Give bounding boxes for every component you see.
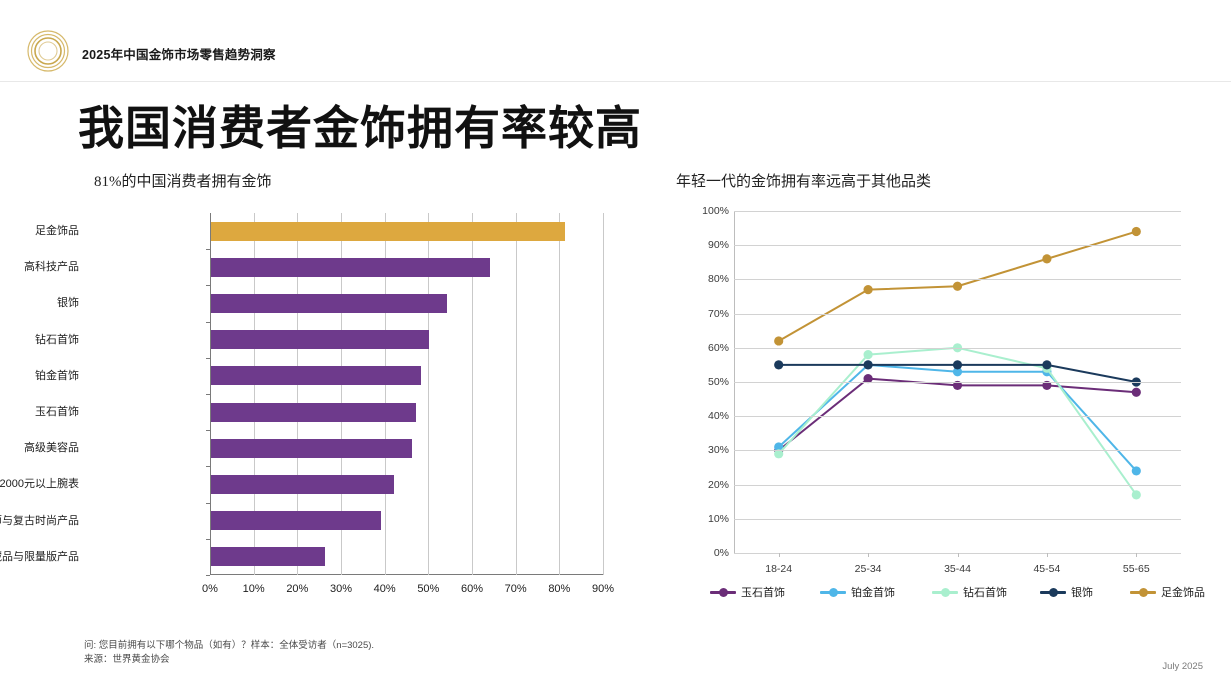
line-data-point[interactable] bbox=[953, 282, 962, 291]
line-data-point[interactable] bbox=[953, 360, 962, 369]
ownership-bar-chart: 0%10%20%30%40%50%60%70%80%90%足金饰品高科技产品银饰… bbox=[90, 213, 630, 603]
bar-rect[interactable] bbox=[211, 547, 325, 566]
line-y-tick-label: 10% bbox=[683, 514, 729, 525]
bar-category-label: 钻石首饰 bbox=[35, 322, 79, 358]
bar-row[interactable]: 收藏品与限量版产品 bbox=[210, 539, 603, 575]
bar-rect[interactable] bbox=[211, 258, 490, 277]
bar-row[interactable]: 铂金首饰 bbox=[210, 358, 603, 394]
page-title: 我国消费者金饰拥有率较高 bbox=[78, 103, 642, 154]
line-y-tick-label: 50% bbox=[683, 377, 729, 388]
footnote-source: 来源：世界黄金协会 bbox=[84, 653, 374, 667]
line-data-point[interactable] bbox=[864, 360, 873, 369]
legend-label: 钻石首饰 bbox=[963, 584, 1007, 600]
bar-row[interactable]: 玉石首饰 bbox=[210, 394, 603, 430]
line-x-tick bbox=[1047, 553, 1048, 557]
legend-label: 铂金首饰 bbox=[851, 584, 895, 600]
left-chart-subtitle: 81%的中国消费者拥有金饰 bbox=[94, 170, 272, 191]
line-x-tick bbox=[958, 553, 959, 557]
line-x-tick bbox=[779, 553, 780, 557]
bar-x-tick-label: 10% bbox=[234, 583, 274, 595]
bar-rect[interactable] bbox=[211, 475, 394, 494]
header-divider bbox=[0, 81, 1231, 82]
slide-page: 2025年中国金饰市场零售趋势洞察 我国消费者金饰拥有率较高 81%的中国消费者… bbox=[0, 0, 1231, 697]
bar-category-label: 高级美容品 bbox=[24, 430, 79, 466]
bar-x-tick-label: 80% bbox=[539, 583, 579, 595]
bar-category-label: 银饰 bbox=[57, 285, 79, 321]
line-data-point[interactable] bbox=[1042, 254, 1051, 263]
bar-rect[interactable] bbox=[211, 222, 565, 241]
line-y-tick-label: 20% bbox=[683, 480, 729, 491]
bar-y-tick bbox=[206, 575, 210, 576]
bar-row[interactable]: 2000元以上腕表 bbox=[210, 466, 603, 502]
line-x-tick-label: 45-54 bbox=[1012, 563, 1082, 575]
line-gridline bbox=[734, 245, 1181, 246]
bar-rect[interactable] bbox=[211, 366, 421, 385]
bar-row[interactable]: 高级美容品 bbox=[210, 430, 603, 466]
line-y-tick-label: 30% bbox=[683, 445, 729, 456]
line-y-tick-label: 40% bbox=[683, 411, 729, 422]
bar-rect[interactable] bbox=[211, 330, 429, 349]
bar-row[interactable]: 足金饰品 bbox=[210, 213, 603, 249]
line-data-point[interactable] bbox=[1132, 466, 1141, 475]
bar-category-label: 设计师与复古时尚产品 bbox=[0, 503, 79, 539]
line-data-point[interactable] bbox=[774, 336, 783, 345]
line-data-point[interactable] bbox=[864, 350, 873, 359]
line-data-point[interactable] bbox=[774, 360, 783, 369]
line-gridline bbox=[734, 382, 1181, 383]
line-data-point[interactable] bbox=[864, 285, 873, 294]
line-gridline bbox=[734, 348, 1181, 349]
legend-dot-icon bbox=[829, 588, 838, 597]
footnote-question: 问: 您目前拥有以下哪个物品（如有）？样本：全体受访者（n=3025). bbox=[84, 639, 374, 653]
bar-plot-area: 0%10%20%30%40%50%60%70%80%90%足金饰品高科技产品银饰… bbox=[210, 213, 603, 575]
header-title: 2025年中国金饰市场零售趋势洞察 bbox=[82, 44, 276, 63]
legend-dot-icon bbox=[1139, 588, 1148, 597]
line-gridline bbox=[734, 314, 1181, 315]
bar-category-label: 足金饰品 bbox=[35, 213, 79, 249]
bar-x-tick-label: 0% bbox=[190, 583, 230, 595]
bar-row[interactable]: 银饰 bbox=[210, 285, 603, 321]
concentric-rings-logo bbox=[25, 28, 71, 74]
line-x-tick-label: 18-24 bbox=[744, 563, 814, 575]
bar-row[interactable]: 钻石首饰 bbox=[210, 322, 603, 358]
line-x-tick-label: 35-44 bbox=[923, 563, 993, 575]
legend-dot-icon bbox=[719, 588, 728, 597]
line-gridline bbox=[734, 485, 1181, 486]
legend-label: 玉石首饰 bbox=[741, 584, 785, 600]
line-gridline bbox=[734, 279, 1181, 280]
footnote: 问: 您目前拥有以下哪个物品（如有）？样本：全体受访者（n=3025). 来源：… bbox=[84, 639, 374, 667]
date-stamp: July 2025 bbox=[1162, 661, 1203, 672]
legend-dot-icon bbox=[941, 588, 950, 597]
line-x-tick bbox=[868, 553, 869, 557]
bar-category-label: 铂金首饰 bbox=[35, 358, 79, 394]
bar-rect[interactable] bbox=[211, 511, 381, 530]
bar-rect[interactable] bbox=[211, 403, 416, 422]
bar-x-tick-label: 90% bbox=[583, 583, 623, 595]
line-x-tick-label: 55-65 bbox=[1101, 563, 1171, 575]
line-data-point[interactable] bbox=[1132, 388, 1141, 397]
line-y-tick-label: 80% bbox=[683, 274, 729, 285]
bar-x-tick-label: 50% bbox=[408, 583, 448, 595]
legend-label: 银饰 bbox=[1071, 584, 1093, 600]
bar-x-tick-label: 20% bbox=[277, 583, 317, 595]
line-gridline bbox=[734, 211, 1181, 212]
line-y-tick-label: 0% bbox=[683, 548, 729, 559]
slide-header: 2025年中国金饰市场零售趋势洞察 bbox=[0, 0, 1231, 82]
bar-x-tick-label: 40% bbox=[365, 583, 405, 595]
line-gridline bbox=[734, 519, 1181, 520]
line-y-tick-label: 60% bbox=[683, 343, 729, 354]
bar-x-tick-label: 70% bbox=[496, 583, 536, 595]
line-y-tick-label: 100% bbox=[683, 206, 729, 217]
line-data-point[interactable] bbox=[1042, 360, 1051, 369]
bar-rect[interactable] bbox=[211, 439, 412, 458]
right-chart-subtitle: 年轻一代的金饰拥有率远高于其他品类 bbox=[676, 170, 931, 191]
line-data-point[interactable] bbox=[1132, 490, 1141, 499]
line-x-tick bbox=[1136, 553, 1137, 557]
bar-gridline bbox=[603, 213, 604, 575]
line-gridline bbox=[734, 416, 1181, 417]
bar-category-label: 玉石首饰 bbox=[35, 394, 79, 430]
bar-row[interactable]: 设计师与复古时尚产品 bbox=[210, 503, 603, 539]
line-y-tick-label: 70% bbox=[683, 309, 729, 320]
bar-category-label: 高科技产品 bbox=[24, 249, 79, 285]
legend-label: 足金饰品 bbox=[1161, 584, 1205, 600]
bar-rect[interactable] bbox=[211, 294, 447, 313]
bar-x-tick-label: 30% bbox=[321, 583, 361, 595]
age-ownership-line-chart: 0%10%20%30%40%50%60%70%80%90%100%18-2425… bbox=[676, 205, 1196, 605]
line-chart-legend: 玉石首饰铂金首饰钻石首饰银饰足金饰品 bbox=[710, 583, 1180, 605]
bar-category-label: 收藏品与限量版产品 bbox=[0, 539, 79, 575]
line-x-tick-label: 25-34 bbox=[833, 563, 903, 575]
line-plot-area: 0%10%20%30%40%50%60%70%80%90%100%18-2425… bbox=[734, 211, 1181, 553]
bar-category-label: 2000元以上腕表 bbox=[0, 466, 79, 502]
bar-row[interactable]: 高科技产品 bbox=[210, 249, 603, 285]
bar-x-tick-label: 60% bbox=[452, 583, 492, 595]
legend-dot-icon bbox=[1049, 588, 1058, 597]
line-gridline bbox=[734, 450, 1181, 451]
line-data-point[interactable] bbox=[1132, 227, 1141, 236]
line-y-tick-label: 90% bbox=[683, 240, 729, 251]
